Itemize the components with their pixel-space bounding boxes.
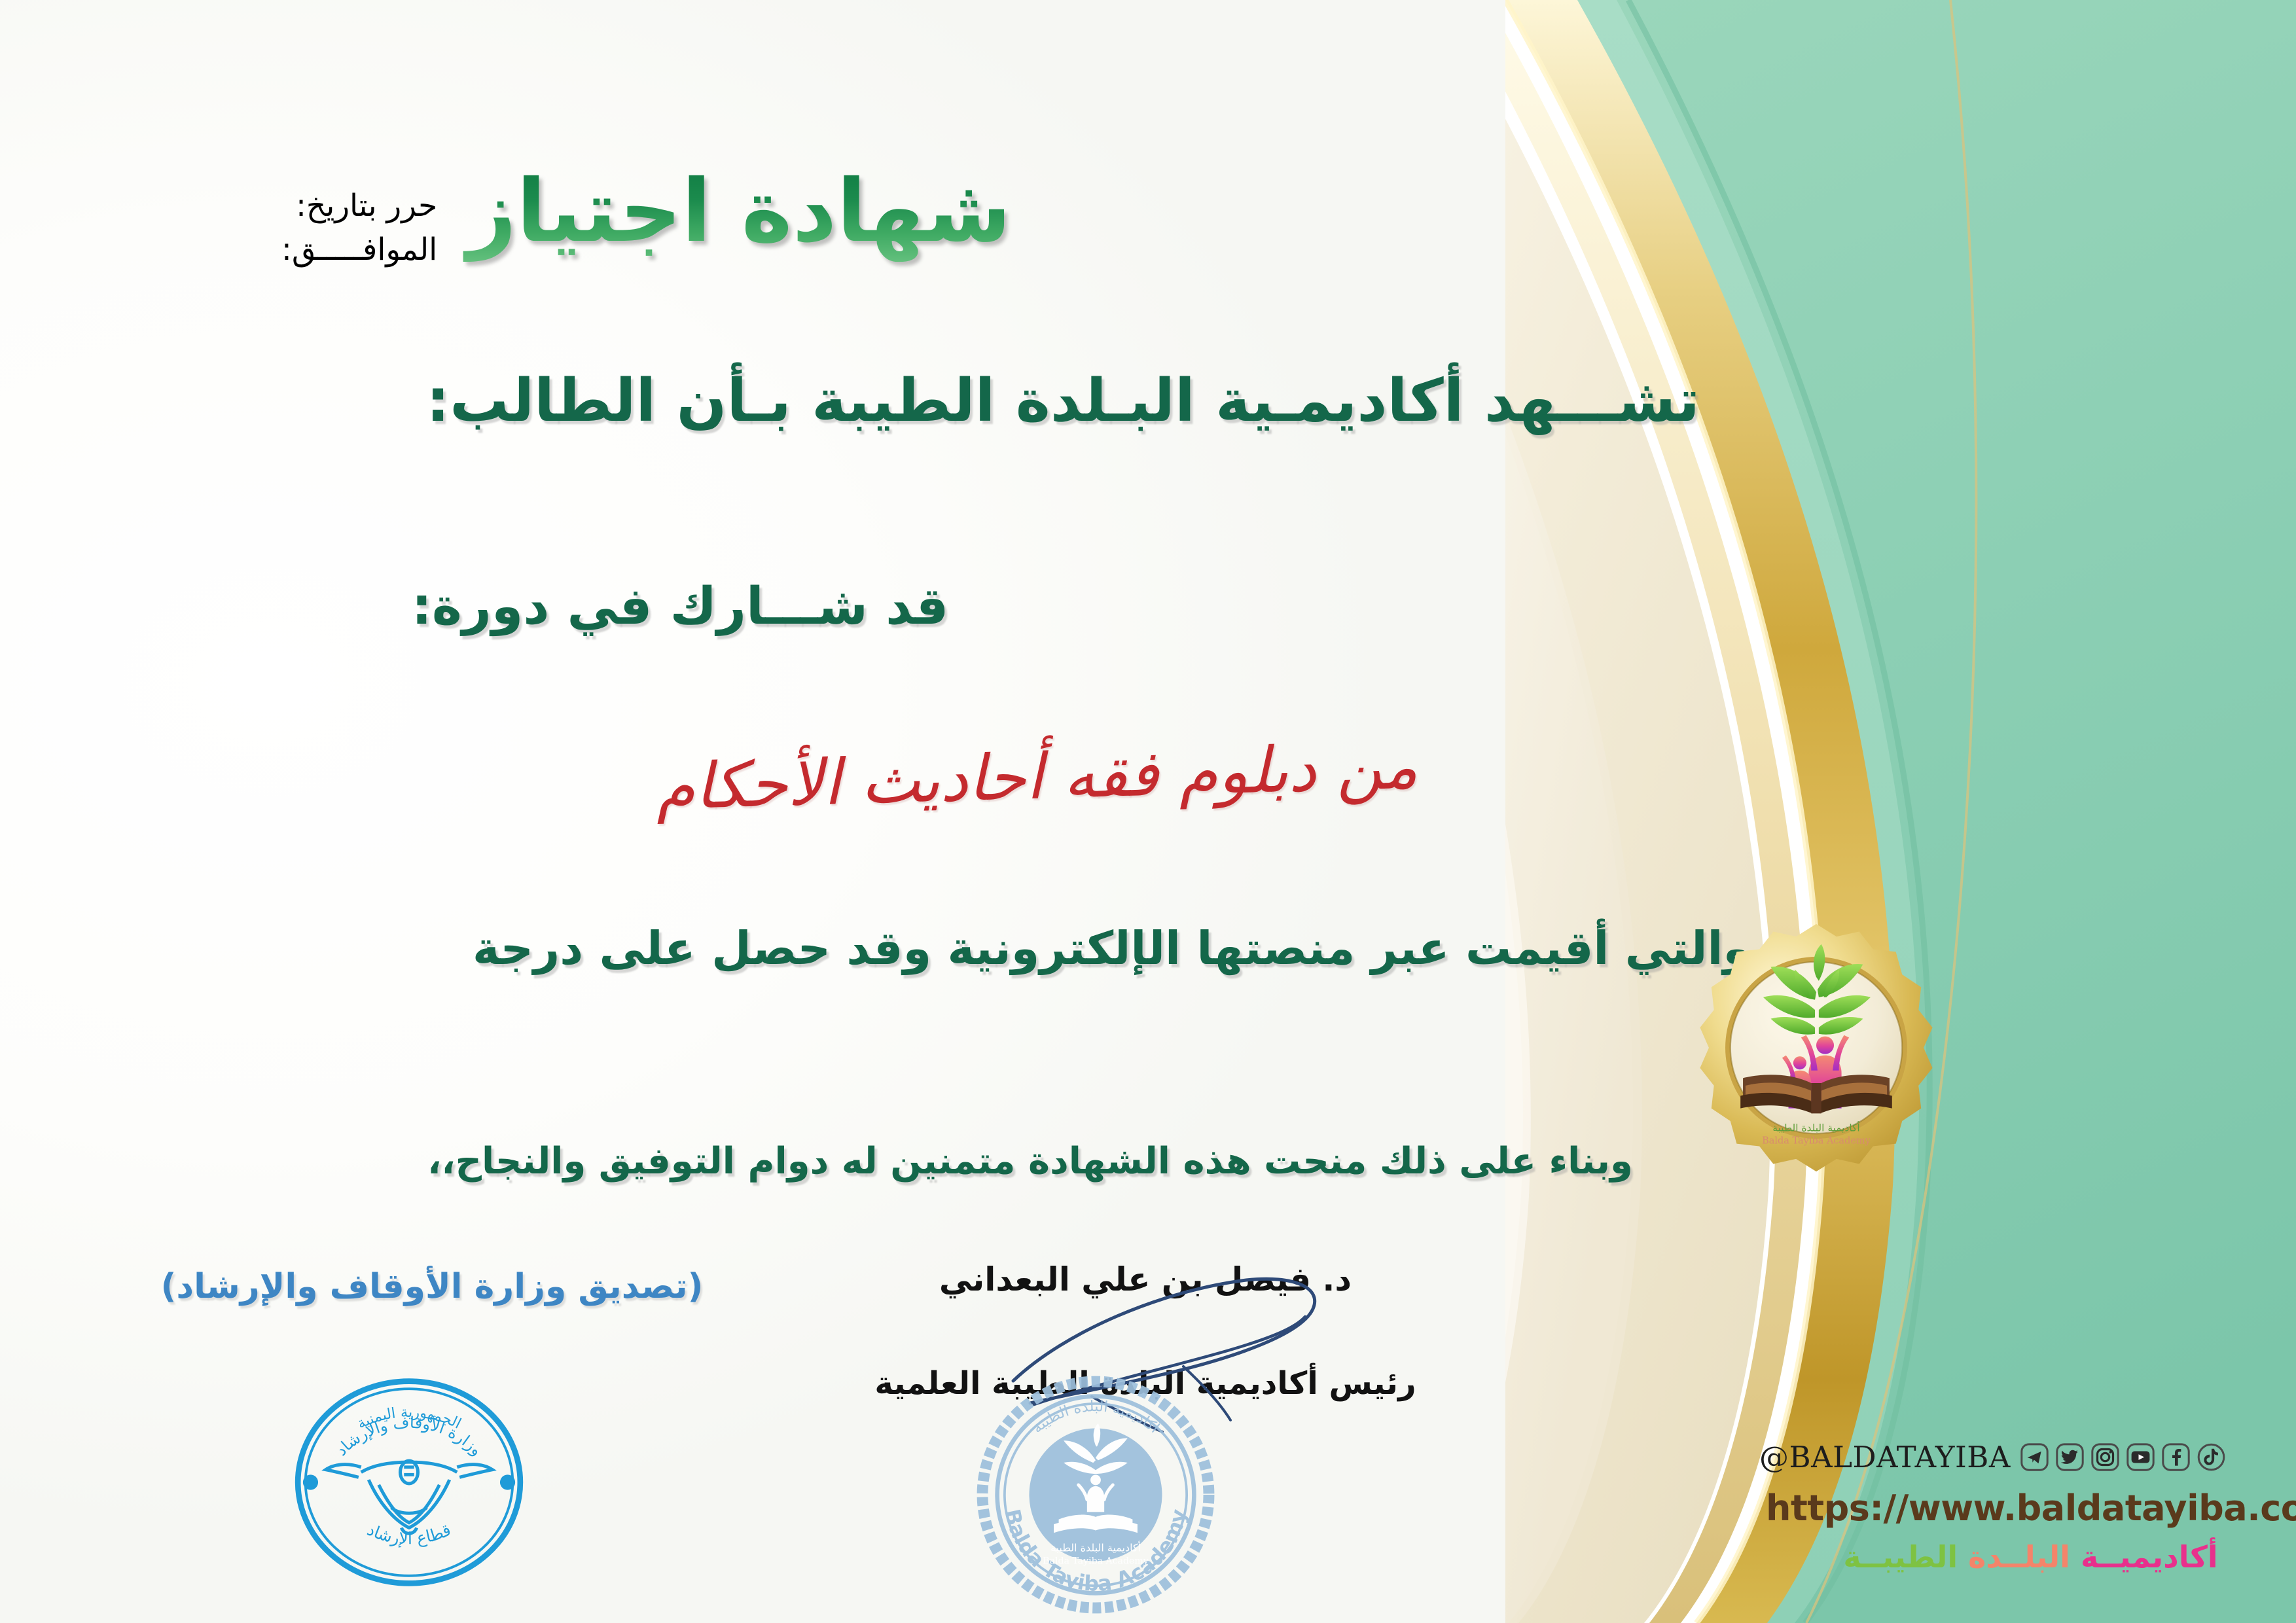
youtube-icon[interactable]	[2126, 1442, 2155, 1472]
svg-text:وزارة الأوقاف والإرشاد: وزارة الأوقاف والإرشاد	[332, 1413, 486, 1459]
brand-part-2: البلــدة	[1968, 1539, 2070, 1575]
certificate-page: حرر بتاريخ: الموافـــــق: شهادة اجتياز ت…	[0, 0, 2296, 1623]
svg-text:أكاديمية البلدة الطيبة: أكاديمية البلدة الطيبة	[1772, 1120, 1859, 1133]
statement-course-intro: قد شـــارك في دورة:	[0, 577, 2296, 636]
footer: @BALDATAYIBA	[1741, 1440, 2284, 1575]
statement-student-line: تشـــهد أكاديمـية البـلدة الطيبة بـأن ال…	[0, 366, 2296, 435]
course-name: من دبلوم فقه أحاديث الأحكام	[0, 705, 2296, 842]
svg-text:أكاديمية البلدة الطيبة: أكاديمية البلدة الطيبة	[1050, 1541, 1141, 1554]
academy-stamp: Balda Tayiba Academy أكاديمية البلدة الط…	[973, 1372, 1219, 1618]
page-title: شهادة اجتياز	[0, 161, 2296, 262]
twitter-icon[interactable]	[2055, 1442, 2085, 1472]
president-name: د. فيصل بن علي البعداني	[916, 1260, 1374, 1298]
website-url[interactable]: https://www.baldatayiba.com	[1741, 1488, 2284, 1529]
brand-name: أكاديميــة البلــدة الطيبــة	[1741, 1539, 2284, 1575]
ministry-stamp: الجمهورية اليمنية وزارة الأوقاف والإرشاد…	[283, 1356, 535, 1609]
certificate-content: حرر بتاريخ: الموافـــــق: شهادة اجتياز ت…	[0, 0, 2296, 1623]
instagram-icon[interactable]	[2090, 1442, 2120, 1472]
statement-closing-line: وبناء على ذلك منحت هذه الشهادة متمنين له…	[0, 1140, 2296, 1183]
social-row: @BALDATAYIBA	[1741, 1440, 2284, 1474]
academy-gold-seal: أكاديمية البلدة الطيبة Balda Tayiba Acad…	[1690, 921, 1943, 1174]
statement-platform-line: والتي أقيمت عبر منصتها الإلكترونية وقد ح…	[0, 921, 2296, 975]
brand-part-3: الطيبــة	[1843, 1539, 1958, 1575]
facebook-icon[interactable]	[2161, 1442, 2191, 1472]
social-icons	[2020, 1442, 2226, 1472]
telegram-icon[interactable]	[2020, 1442, 2049, 1472]
svg-text:Balda Tayiba Academy: Balda Tayiba Academy	[1043, 1556, 1148, 1566]
tiktok-icon[interactable]	[2197, 1442, 2226, 1472]
brand-part-1: أكاديميــة	[2081, 1539, 2218, 1575]
svg-text:Balda Tayiba Academy: Balda Tayiba Academy	[1762, 1136, 1871, 1147]
social-handle: @BALDATAYIBA	[1759, 1440, 2011, 1474]
ministry-endorsement-label: (تصديق وزارة الأوقاف والإرشاد)	[144, 1267, 720, 1306]
